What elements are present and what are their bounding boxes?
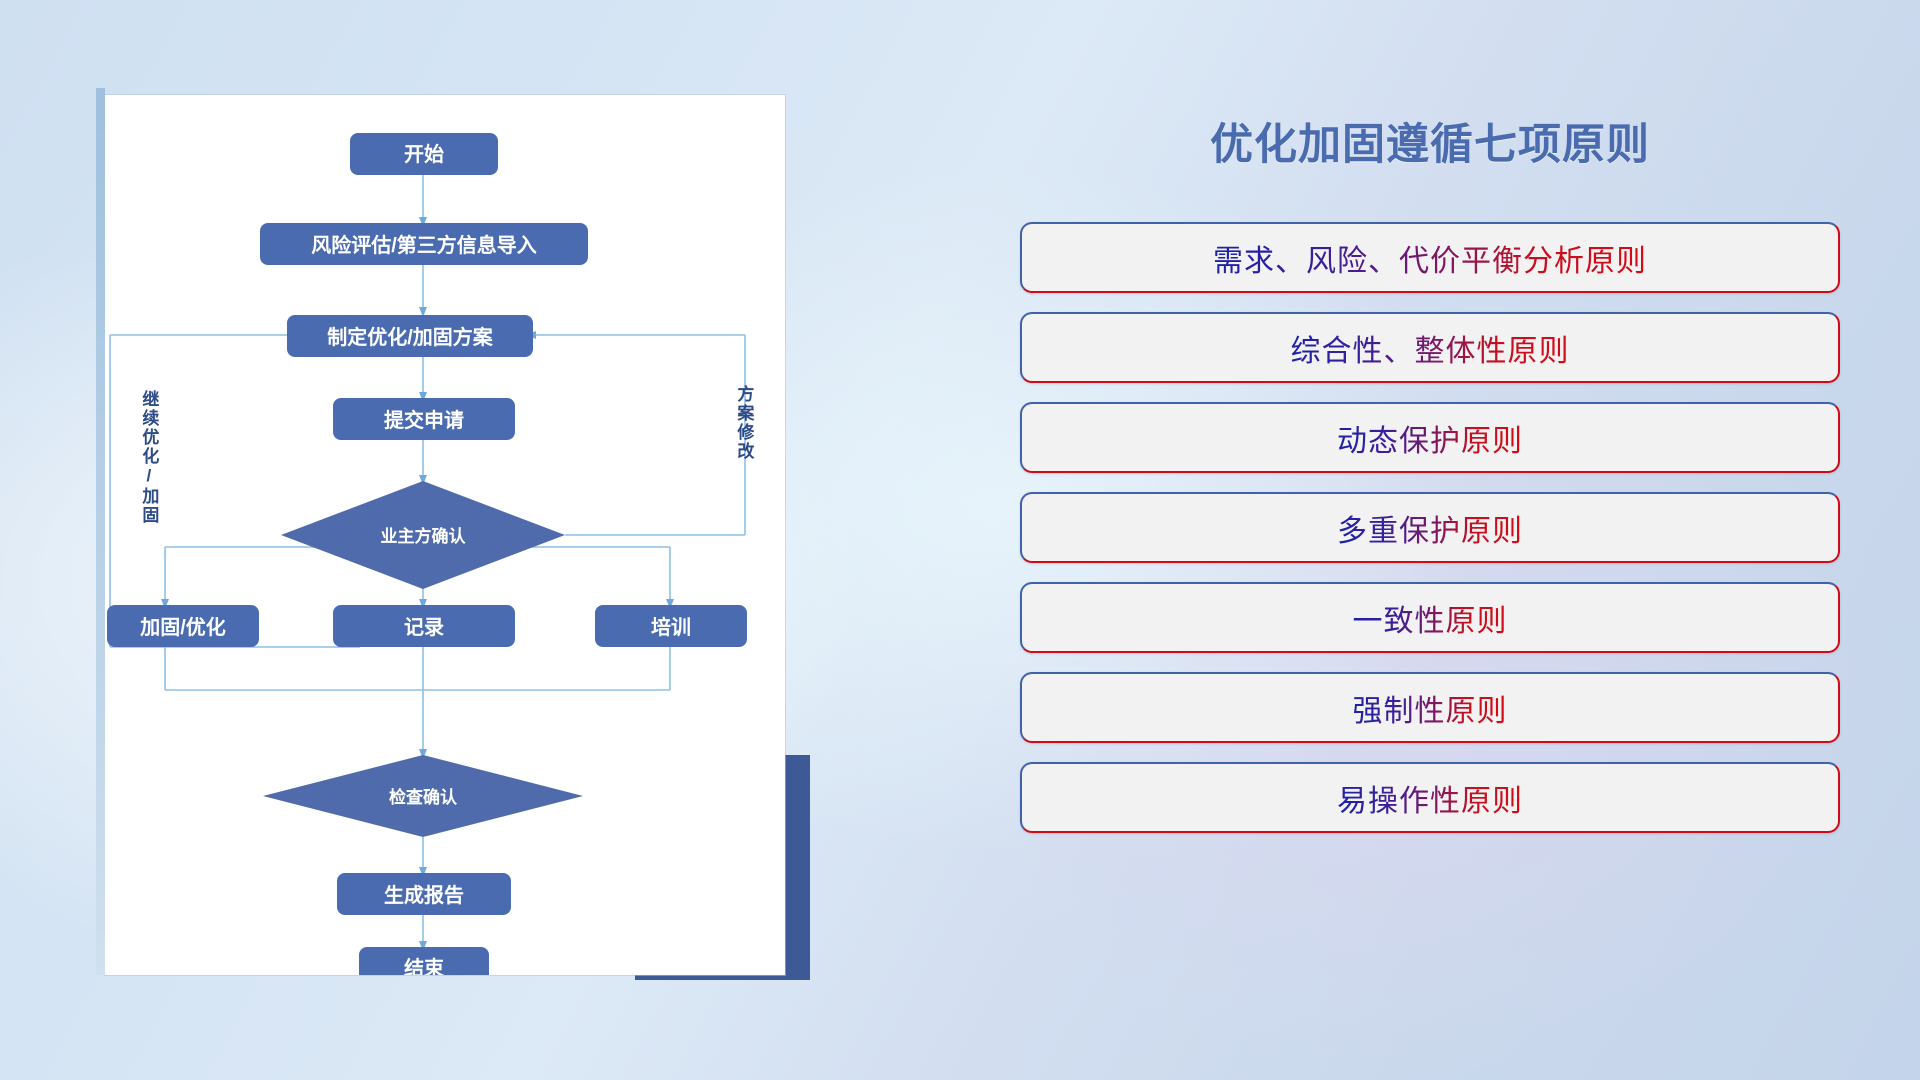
flow-node-end[interactable]: 结束 [359, 947, 489, 975]
flow-node-reinforce-label: 加固/优化 [139, 615, 226, 639]
flow-node-owner-confirm-label: 业主方确认 [381, 526, 467, 546]
principle-item[interactable]: 易操作性原则 [1020, 762, 1840, 833]
flow-node-submit[interactable]: 提交申请 [333, 398, 515, 440]
page-title: 优化加固遵循七项原则 [1020, 110, 1840, 172]
slide-canvas: 开始 风险评估/第三方信息导入 制定优化/加固方案 提交申请 业主方确认 [0, 0, 1920, 1080]
principle-item[interactable]: 多重保护原则 [1020, 492, 1840, 563]
principle-label: 强制性原则 [1353, 686, 1508, 730]
flow-node-train-label: 培训 [651, 615, 691, 639]
flowchart-diagram: 开始 风险评估/第三方信息导入 制定优化/加固方案 提交申请 业主方确认 [105, 95, 785, 975]
flow-node-start[interactable]: 开始 [350, 133, 498, 175]
principles-list: 需求、风险、代价平衡分析原则 综合性、整体性原则 动态保护原则 多重保护原则 一… [1020, 222, 1840, 833]
flow-node-report-label: 生成报告 [384, 883, 464, 907]
flow-node-record-label: 记录 [404, 616, 444, 639]
flow-node-start-label: 开始 [404, 142, 444, 166]
flowchart-card: 开始 风险评估/第三方信息导入 制定优化/加固方案 提交申请 业主方确认 [105, 95, 785, 975]
flow-node-plan[interactable]: 制定优化/加固方案 [287, 315, 533, 357]
principle-label: 易操作性原则 [1337, 776, 1523, 820]
flow-node-submit-label: 提交申请 [384, 408, 464, 432]
principle-item[interactable]: 强制性原则 [1020, 672, 1840, 743]
principle-item[interactable]: 动态保护原则 [1020, 402, 1840, 473]
flow-node-train[interactable]: 培训 [595, 605, 747, 647]
principle-item[interactable]: 一致性原则 [1020, 582, 1840, 653]
principle-label: 综合性、整体性原则 [1291, 326, 1570, 370]
flowchart-side-label-right: 方案修改 [735, 385, 752, 461]
flow-node-risk-label: 风险评估/第三方信息导入 [311, 233, 537, 257]
principle-label: 多重保护原则 [1337, 506, 1523, 550]
flow-node-owner-confirm[interactable]: 业主方确认 [281, 481, 565, 589]
principle-label: 动态保护原则 [1337, 416, 1523, 460]
principle-label: 一致性原则 [1353, 596, 1508, 640]
flow-node-record[interactable]: 记录 [333, 605, 515, 647]
flow-node-risk[interactable]: 风险评估/第三方信息导入 [260, 223, 588, 265]
principle-item[interactable]: 综合性、整体性原则 [1020, 312, 1840, 383]
flowchart-side-label-left: 继续优化/加固 [140, 390, 157, 525]
principle-label: 需求、风险、代价平衡分析原则 [1213, 236, 1647, 280]
flow-node-end-label: 结束 [404, 956, 445, 975]
flow-node-report[interactable]: 生成报告 [337, 873, 511, 915]
principles-panel: 优化加固遵循七项原则 需求、风险、代价平衡分析原则 综合性、整体性原则 动态保护… [1020, 95, 1840, 995]
flow-node-check-label: 检查确认 [389, 787, 458, 807]
flow-node-check[interactable]: 检查确认 [263, 755, 583, 837]
flow-node-reinforce[interactable]: 加固/优化 [107, 605, 259, 647]
flow-node-plan-label: 制定优化/加固方案 [327, 325, 494, 349]
principle-item[interactable]: 需求、风险、代价平衡分析原则 [1020, 222, 1840, 293]
